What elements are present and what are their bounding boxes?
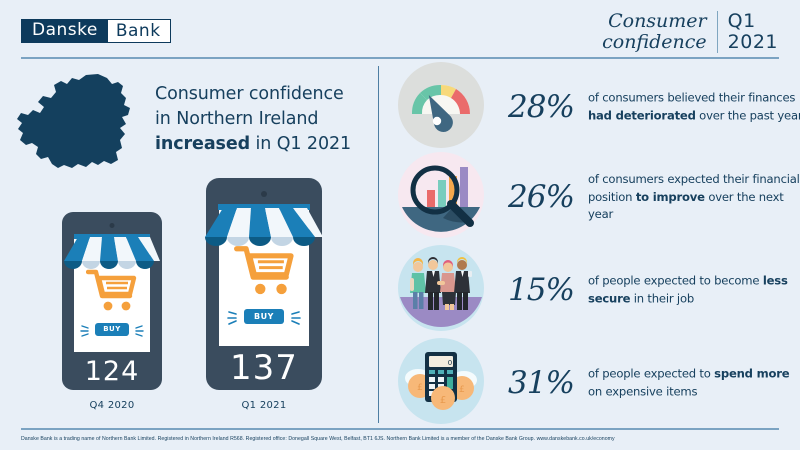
logo-danske-text: Danske bbox=[21, 19, 107, 43]
stat-text-before: of consumers believed their finances bbox=[588, 91, 795, 105]
northern-ireland-map-icon bbox=[14, 72, 140, 184]
vertical-divider bbox=[378, 66, 379, 423]
header-title: Consumer confidence bbox=[602, 11, 718, 53]
phone-card-q4-2020: BUY 124 Q4 2020 bbox=[56, 212, 168, 422]
shop-awning-icon bbox=[196, 204, 332, 250]
page-header: Danske Bank Consumer confidence Q1 2021 bbox=[0, 0, 800, 58]
stat-row-spend-more: £ £ 0 £ 31% of people expected to spend … bbox=[398, 338, 798, 428]
svg-text:£: £ bbox=[459, 385, 465, 395]
stat-percent-spend-more: 31% bbox=[496, 365, 586, 401]
stat-text-spend-more: of people expected to spend more on expe… bbox=[588, 366, 800, 401]
stat-text-emphasis: spend more bbox=[714, 367, 789, 381]
header-quarter-line1: Q1 bbox=[728, 11, 778, 32]
stat-percent-deteriorated: 28% bbox=[496, 89, 586, 125]
stat-text-improve: of consumers expected their financial po… bbox=[588, 171, 800, 224]
stat-text-emphasis: to improve bbox=[636, 189, 705, 203]
header-title-line2: confidence bbox=[602, 32, 707, 53]
header-quarter-line2: 2021 bbox=[728, 32, 778, 53]
footer-disclaimer: Danske Bank is a trading name of Norther… bbox=[21, 435, 781, 443]
headline-line-1: Consumer confidence bbox=[155, 82, 370, 107]
gauge-icon bbox=[398, 62, 484, 148]
phone-camera-icon bbox=[110, 223, 115, 228]
buy-button[interactable]: BUY bbox=[244, 309, 284, 324]
business-people-icon bbox=[398, 245, 484, 331]
magnifier-bar-chart-icon bbox=[398, 152, 484, 238]
phone-camera-icon bbox=[261, 191, 267, 197]
stat-percent-improve: 26% bbox=[496, 179, 586, 215]
stat-text-less-secure: of people expected to become less secure… bbox=[588, 273, 800, 308]
stat-text-before: of people expected to bbox=[588, 367, 714, 381]
stat-text-after: in their job bbox=[630, 291, 694, 305]
headline-line-3-tail: in Q1 2021 bbox=[250, 134, 351, 154]
stat-row-deteriorated: 28% of consumers believed their finances… bbox=[398, 62, 798, 152]
stat-row-improve: 26% of consumers expected their financia… bbox=[398, 152, 798, 242]
phone-value-q4-2020: 124 bbox=[56, 356, 168, 387]
phone-label-q4-2020: Q4 2020 bbox=[56, 400, 168, 411]
header-quarter: Q1 2021 bbox=[728, 11, 778, 53]
header-divider bbox=[21, 57, 779, 59]
shopping-cart-icon bbox=[234, 244, 296, 296]
headline-emphasis: increased bbox=[155, 134, 250, 154]
page-headline: Consumer confidence in Northern Ireland … bbox=[155, 82, 370, 157]
danske-bank-logo: Danske Bank bbox=[21, 19, 171, 43]
stat-text-after: on expensive items bbox=[588, 384, 697, 398]
calculator-coins-icon: £ £ 0 £ bbox=[398, 338, 484, 424]
stat-text-emphasis: had deteriorated bbox=[588, 108, 696, 122]
logo-bank-text: Bank bbox=[107, 19, 171, 43]
header-title-line1: Consumer bbox=[602, 11, 707, 32]
headline-line-2: in Northern Ireland bbox=[155, 107, 370, 132]
svg-text:0: 0 bbox=[448, 359, 452, 367]
svg-text:£: £ bbox=[440, 395, 446, 406]
buy-button[interactable]: BUY bbox=[95, 323, 129, 336]
phone-card-q1-2021: BUY 137 Q1 2021 bbox=[196, 178, 332, 422]
shop-awning-icon bbox=[56, 234, 168, 272]
stat-percent-less-secure: 15% bbox=[496, 272, 586, 308]
header-title-block: Consumer confidence Q1 2021 bbox=[602, 11, 778, 53]
headline-line-3: increased in Q1 2021 bbox=[155, 132, 370, 157]
phone-value-q1-2021: 137 bbox=[196, 348, 332, 388]
stat-text-deteriorated: of consumers believed their finances had… bbox=[588, 90, 800, 125]
phone-label-q1-2021: Q1 2021 bbox=[196, 400, 332, 411]
svg-text:£: £ bbox=[417, 383, 423, 393]
shopping-cart-icon bbox=[86, 268, 138, 312]
stat-text-after: over the past year bbox=[696, 108, 800, 122]
stat-row-less-secure: 15% of people expected to become less se… bbox=[398, 245, 798, 335]
footer-divider bbox=[21, 428, 779, 430]
stat-text-before: of people expected to become bbox=[588, 274, 763, 288]
